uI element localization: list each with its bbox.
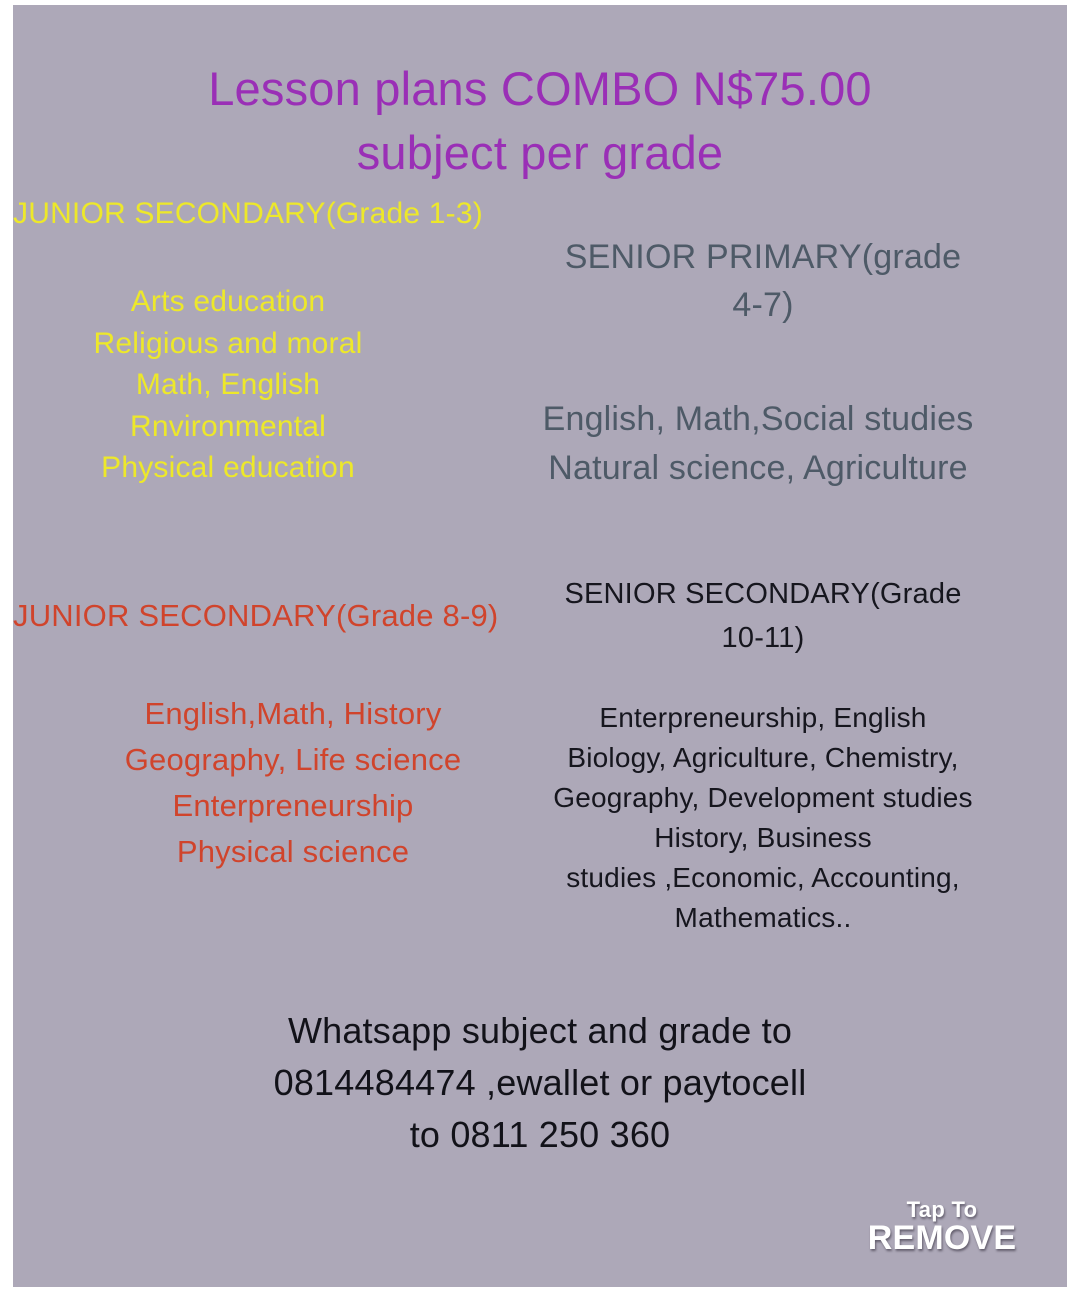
subject-list-junior-secondary-1-3: Arts education Religious and moral Math,… xyxy=(13,281,443,489)
subject-list-senior-secondary-10-11: Enterpreneurship, English Biology, Agric… xyxy=(493,698,1033,938)
section-heading-senior-secondary-10-11: SENIOR SECONDARY(Grade 10-11) xyxy=(513,572,1013,660)
subject-list-senior-primary-4-7: English, Math,Social studies Natural sci… xyxy=(453,395,1063,493)
poster-canvas: Lesson plans COMBO N$75.00 subject per g… xyxy=(13,5,1067,1287)
tap-to-remove-watermark[interactable]: Tap To REMOVE xyxy=(827,1198,1057,1257)
contact-instructions: Whatsapp subject and grade to 0814484474… xyxy=(13,1005,1067,1161)
watermark-line-1: Tap To xyxy=(827,1198,1057,1221)
watermark-line-2: REMOVE xyxy=(827,1221,1057,1257)
section-heading-junior-secondary-1-3: JUNIOR SECONDARY(Grade 1-3) xyxy=(13,196,543,232)
subject-list-junior-secondary-8-9: English,Math, History Geography, Life sc… xyxy=(73,691,513,875)
page-title: Lesson plans COMBO N$75.00 subject per g… xyxy=(13,57,1067,185)
section-heading-senior-primary-4-7: SENIOR PRIMARY(grade 4-7) xyxy=(493,233,1033,329)
